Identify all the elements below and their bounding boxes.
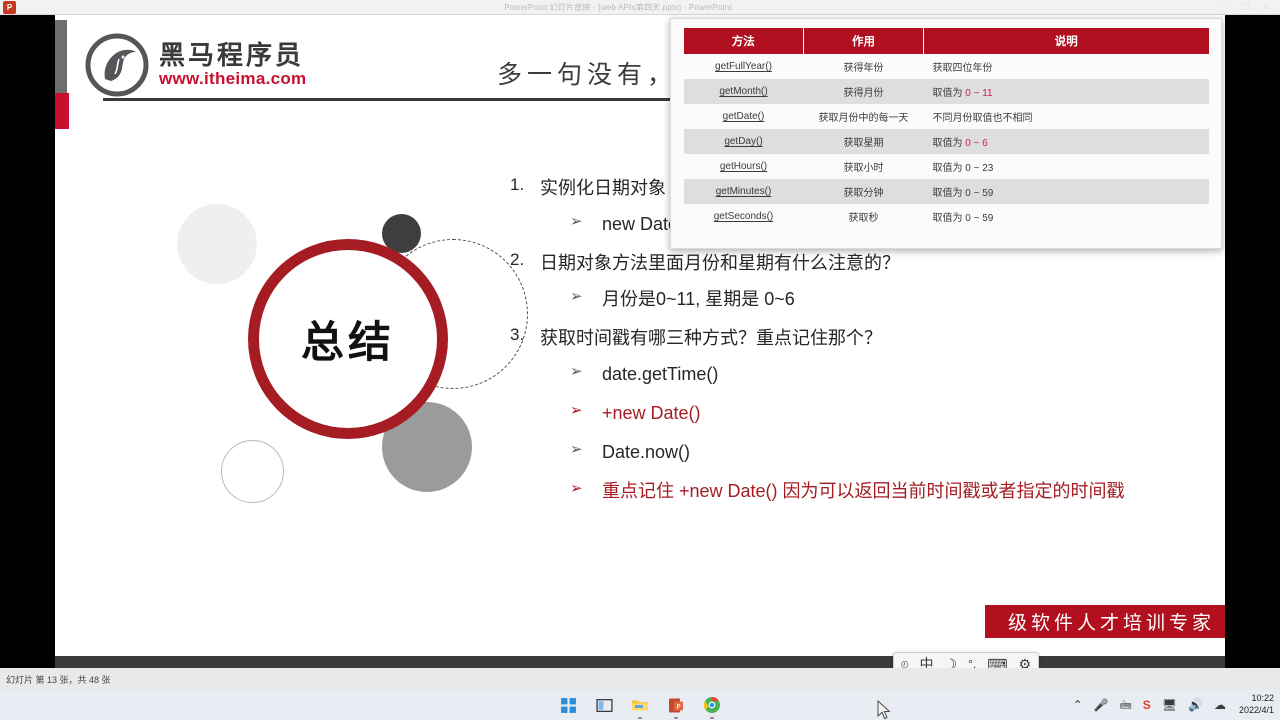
slide-counter: 幻灯片 第 13 张，共 48 张: [6, 673, 111, 686]
item-text: 日期对象方法里面月份和星期有什么注意的？: [540, 250, 900, 276]
item-number: 1.: [510, 175, 540, 195]
item-number: 3.: [510, 325, 540, 345]
powerpoint-statusbar: 幻灯片 第 13 张，共 48 张: [0, 668, 1280, 690]
window-title: PowerPoint 幻灯片放映 - [web APIs第四天.pptx] - …: [16, 2, 1220, 13]
bullet-marker-icon: ➢: [570, 439, 602, 462]
cell-desc: 不同月份取值也不相同: [924, 104, 1209, 129]
list-item: 2. 日期对象方法里面月份和星期有什么注意的？: [510, 250, 1210, 276]
tray-expand-icon[interactable]: ⌃: [1073, 699, 1083, 711]
list-item: 3. 获取时间戳有哪三种方式？重点记住那个？: [510, 325, 1210, 351]
cell-role: 获得月份: [804, 79, 924, 104]
cell-method: getMinutes(): [684, 179, 804, 204]
sub-item-text: 月份是0~11, 星期是 0~6: [602, 286, 795, 313]
cell-method: getFullYear(): [684, 54, 804, 79]
bullet-marker-icon: ➢: [570, 361, 602, 384]
svg-text:P: P: [676, 702, 680, 710]
cell-desc: 获取四位年份: [924, 54, 1209, 79]
powerpoint-button[interactable]: P: [665, 694, 687, 716]
cell-desc: 取值为 0 ~ 11: [924, 79, 1209, 104]
decor-circle-lightgrey: [177, 204, 257, 284]
date-methods-table: 方法 作用 说明 getFullYear() 获得年份 获取四位年份 getMo…: [684, 28, 1209, 229]
bullet-marker-icon: ➢: [570, 286, 602, 309]
sub-item: ➢ 重点记住 +new Date() 因为可以返回当前时间戳或者指定的时间戳: [570, 478, 1210, 505]
decor-circle-outline: [221, 440, 284, 503]
item-number: 2.: [510, 250, 540, 270]
sub-item: ➢ +new Date(): [570, 400, 1210, 427]
sub-item: ➢ Date.now(): [570, 439, 1210, 466]
cell-method: getDay(): [684, 129, 804, 154]
cell-role: 获取小时: [804, 154, 924, 179]
windows-start-icon[interactable]: [560, 697, 577, 714]
template-red-bar: [55, 93, 69, 129]
cell-desc: 取值为 0 ~ 59: [924, 204, 1209, 229]
chrome-icon[interactable]: [703, 696, 721, 714]
summary-graphic: 总结: [155, 175, 555, 525]
file-explorer-button[interactable]: [629, 694, 651, 716]
table-row: getMonth() 获得月份 取值为 0 ~ 11: [684, 79, 1209, 104]
tray-microphone-icon[interactable]: 🎤: [1094, 699, 1109, 711]
col-header-role: 作用: [804, 28, 924, 54]
powerpoint-icon[interactable]: P: [668, 697, 684, 714]
cell-method: getDate(): [684, 104, 804, 129]
cell-method: getSeconds(): [684, 204, 804, 229]
table-row: getMinutes() 获取分钟 取值为 0 ~ 59: [684, 179, 1209, 204]
tray-network-icon[interactable]: 🖥: [1162, 699, 1177, 711]
file-explorer-icon[interactable]: [631, 697, 649, 714]
item-text: 获取时间戳有哪三种方式？重点记住那个？: [540, 325, 882, 351]
table-header-row: 方法 作用 说明: [684, 28, 1209, 54]
screen: P PowerPoint 幻灯片放映 - [web APIs第四天.pptx] …: [0, 0, 1280, 720]
col-header-desc: 说明: [924, 28, 1209, 54]
cell-desc: 取值为 0 ~ 59: [924, 179, 1209, 204]
window-titlebar: P PowerPoint 幻灯片放映 - [web APIs第四天.pptx] …: [0, 0, 1280, 15]
minimize-button[interactable]: —: [1220, 3, 1228, 12]
col-header-method: 方法: [684, 28, 804, 54]
cell-role: 获取秒: [804, 204, 924, 229]
ribbon-text: 级软件人才培训专家: [1008, 608, 1215, 635]
table-row: getSeconds() 获取秒 取值为 0 ~ 59: [684, 204, 1209, 229]
table-row: getDay() 获取星期 取值为 0 ~ 6: [684, 129, 1209, 154]
cell-desc: 取值为 0 ~ 6: [924, 129, 1209, 154]
start-button[interactable]: [557, 694, 579, 716]
bullet-marker-icon: ➢: [570, 478, 602, 501]
taskbar-clock[interactable]: 10:22 2022/4/1: [1239, 693, 1274, 716]
horse-head-logo-icon: [85, 33, 149, 97]
brand-logo: 黑马程序员 www.itheima.com: [85, 33, 306, 97]
table-row: getHours() 获取小时 取值为 0 ~ 23: [684, 154, 1209, 179]
close-button[interactable]: ✕: [1263, 3, 1270, 12]
table-row: getFullYear() 获得年份 获取四位年份: [684, 54, 1209, 79]
sub-item-text: 重点记住 +new Date() 因为可以返回当前时间戳或者指定的时间戳: [602, 478, 1162, 505]
table-row: getDate() 获取月份中的每一天 不同月份取值也不相同: [684, 104, 1209, 129]
windows-taskbar: P ⌃ 🎤 🖮 S 🖥 🔊 ☁ 10:22 2022/4: [0, 690, 1280, 720]
template-grey-bar: [55, 20, 67, 95]
task-view-button[interactable]: [593, 694, 615, 716]
bullet-marker-icon: ➢: [570, 400, 602, 423]
cell-method: getMonth(): [684, 79, 804, 104]
cell-role: 获取月份中的每一天: [804, 104, 924, 129]
mouse-cursor-icon: [876, 700, 892, 720]
sub-item: ➢ date.getTime(): [570, 361, 1210, 388]
restore-button[interactable]: ❐: [1242, 3, 1249, 12]
chrome-button[interactable]: [701, 694, 723, 716]
sub-item-text: Date.now(): [602, 439, 690, 466]
cell-role: 获取分钟: [804, 179, 924, 204]
sub-item-text: +new Date(): [602, 400, 701, 427]
brand-url: www.itheima.com: [159, 69, 306, 89]
cell-method: getHours(): [684, 154, 804, 179]
sub-item-text: date.getTime(): [602, 361, 718, 388]
tray-keyboard-icon[interactable]: 🖮: [1120, 699, 1132, 711]
sub-item: ➢ 月份是0~11, 星期是 0~6: [570, 286, 1210, 313]
clock-time: 10:22: [1239, 693, 1274, 705]
cell-role: 获得年份: [804, 54, 924, 79]
powerpoint-icon: P: [3, 1, 16, 14]
tray-volume-icon[interactable]: 🔊: [1188, 699, 1203, 711]
summary-circle: 总结: [248, 239, 448, 439]
sub-item-text: new Date: [602, 211, 678, 238]
footer-ribbon: 级软件人才培训专家: [985, 605, 1225, 638]
tray-cloud-icon[interactable]: ☁: [1214, 699, 1226, 711]
item-text: 实例化日期对象: [540, 175, 666, 201]
tray-sogou-icon[interactable]: S: [1143, 699, 1151, 711]
cell-role: 获取星期: [804, 129, 924, 154]
system-tray: ⌃ 🎤 🖮 S 🖥 🔊 ☁ 10:22 2022/4/1: [1073, 693, 1274, 716]
clock-date: 2022/4/1: [1239, 705, 1274, 717]
cell-desc: 取值为 0 ~ 23: [924, 154, 1209, 179]
slide-bottom-bar: [55, 656, 1225, 668]
api-reference-panel[interactable]: 方法 作用 说明 getFullYear() 获得年份 获取四位年份 getMo…: [670, 18, 1222, 249]
brand-name: 黑马程序员: [159, 42, 306, 69]
task-view-icon[interactable]: [596, 697, 613, 714]
summary-label: 总结: [301, 308, 395, 370]
bullet-marker-icon: ➢: [570, 211, 602, 234]
